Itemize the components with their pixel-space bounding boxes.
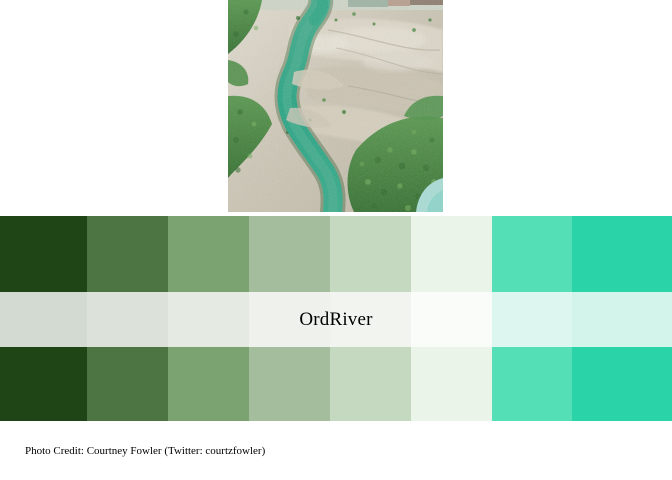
aerial-photo-illustration (228, 0, 443, 212)
swatch-top-1[interactable] (0, 216, 87, 292)
swatch-bottom-4[interactable] (249, 347, 330, 421)
swatch-middle-5[interactable] (330, 292, 411, 347)
ord-river-aerial-photo (228, 0, 443, 212)
swatch-middle-4[interactable] (249, 292, 330, 347)
swatch-bottom-8[interactable] (572, 347, 672, 421)
swatch-top-6[interactable] (411, 216, 492, 292)
swatch-top-2[interactable] (87, 216, 168, 292)
swatch-top-3[interactable] (168, 216, 249, 292)
swatch-top-7[interactable] (492, 216, 572, 292)
swatch-middle-7[interactable] (492, 292, 572, 347)
swatch-bottom-2[interactable] (87, 347, 168, 421)
swatch-bottom-3[interactable] (168, 347, 249, 421)
swatch-top-4[interactable] (249, 216, 330, 292)
swatch-middle-8[interactable] (572, 292, 672, 347)
swatch-bottom-6[interactable] (411, 347, 492, 421)
swatch-top-5[interactable] (330, 216, 411, 292)
color-palette-grid (0, 216, 672, 421)
swatch-bottom-1[interactable] (0, 347, 87, 421)
swatch-bottom-7[interactable] (492, 347, 572, 421)
swatch-middle-2[interactable] (87, 292, 168, 347)
swatch-bottom-5[interactable] (330, 347, 411, 421)
swatch-middle-3[interactable] (168, 292, 249, 347)
photo-credit-caption: Photo Credit: Courtney Fowler (Twitter: … (25, 445, 265, 457)
swatch-top-8[interactable] (572, 216, 672, 292)
swatch-middle-6[interactable] (411, 292, 492, 347)
swatch-middle-1[interactable] (0, 292, 87, 347)
